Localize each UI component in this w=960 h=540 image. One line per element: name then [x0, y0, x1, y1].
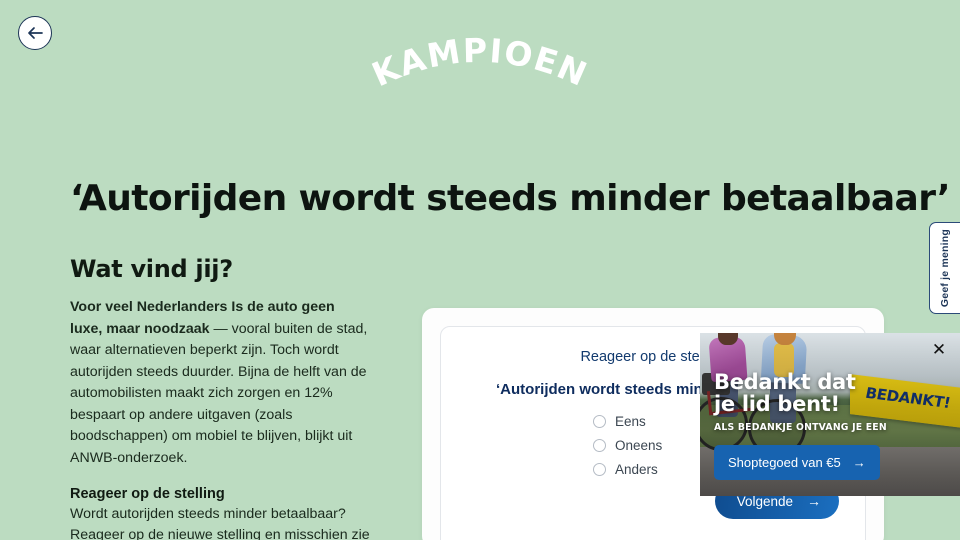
arrow-right-icon: →	[853, 455, 866, 470]
arrow-left-icon	[27, 26, 43, 40]
promo-cta-label: Shoptegoed van €5	[728, 455, 841, 470]
poll-option-label: Oneens	[615, 438, 662, 453]
feedback-tab[interactable]: Geef je mening	[929, 222, 960, 314]
poll-option-label: Anders	[615, 462, 658, 477]
brand-logo-text: KAMPIOEN	[366, 31, 594, 95]
promo-content: Bedankt dat je lid bent! ALS BEDANKJE ON…	[714, 371, 950, 480]
promo-cta-button[interactable]: Shoptegoed van €5 →	[714, 445, 880, 480]
poll-option-oneens[interactable]: Oneens	[593, 438, 713, 453]
article-subbody: Wordt autorijden steeds minder betaalbaa…	[70, 504, 370, 540]
back-button[interactable]	[18, 16, 52, 50]
article-column: Wat vind jij? Voor veel Nederlanders Is …	[70, 255, 370, 540]
poll-option-anders[interactable]: Anders	[593, 462, 713, 477]
radio-icon[interactable]	[593, 415, 606, 428]
article-subheading: Reageer op de stelling	[70, 486, 370, 502]
promo-title-line-2: je lid bent!	[714, 393, 950, 415]
poll-option-eens[interactable]: Eens	[593, 414, 713, 429]
brand-logo: KAMPIOEN	[0, 30, 960, 110]
feedback-tab-label: Geef je mening	[939, 229, 951, 307]
poll-option-label: Eens	[615, 414, 646, 429]
promo-subtitle: ALS BEDANKJE ONTVANG JE EEN	[714, 422, 950, 433]
article-intro-paragraph: Voor veel Nederlanders Is de auto geen l…	[70, 297, 370, 470]
page-title: ‘Autorijden wordt steeds minder betaalba…	[70, 178, 900, 219]
close-icon[interactable]: ✕	[928, 339, 950, 361]
promo-title-line-1: Bedankt dat	[714, 371, 950, 393]
promo-title: Bedankt dat je lid bent!	[714, 371, 950, 416]
article-section-title: Wat vind jij?	[70, 255, 370, 283]
radio-icon[interactable]	[593, 463, 606, 476]
promo-popup: BEDANKT! ✕ Bedankt dat je lid bent! ALS …	[700, 333, 960, 496]
article-body: — vooral buiten de stad, waar alternatie…	[70, 321, 367, 466]
radio-icon[interactable]	[593, 439, 606, 452]
